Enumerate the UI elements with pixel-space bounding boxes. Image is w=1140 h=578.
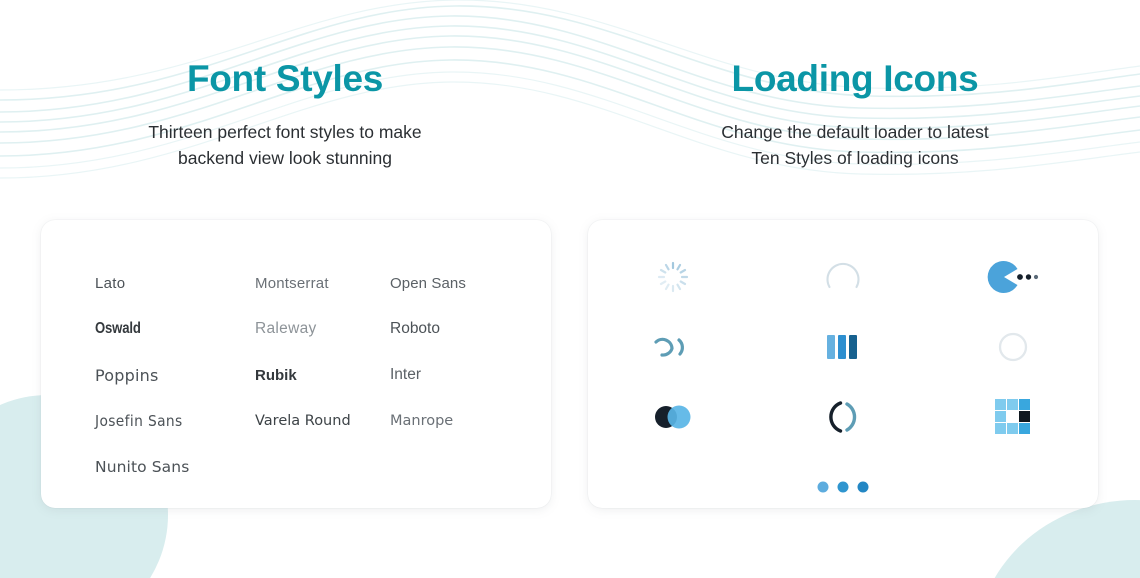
font-name-rubik[interactable]: Rubik [255, 367, 390, 384]
panels-container: Font Styles Thirteen perfect font styles… [0, 0, 1140, 578]
subtitle-line-2: Ten Styles of loading icons [570, 146, 1140, 171]
spinner-dashes-icon[interactable] [656, 260, 690, 294]
loader-cell-2[interactable] [808, 247, 878, 307]
loader-cell-5[interactable] [808, 317, 878, 377]
pacman-icon[interactable] [987, 260, 1039, 294]
page-title-loading-icons: Loading Icons [570, 57, 1140, 101]
font-name-roboto[interactable]: Roboto [390, 320, 515, 338]
split-ring-icon[interactable] [823, 398, 863, 436]
three-bars-icon[interactable] [824, 331, 862, 363]
font-name-montserrat[interactable]: Montserrat [255, 275, 390, 292]
subtitle-line-2: backend view look stunning [0, 146, 570, 171]
arc-ring-icon[interactable] [823, 257, 863, 297]
loader-icon-grid [588, 242, 1098, 522]
page-title-font-styles: Font Styles [0, 57, 570, 101]
font-name-raleway[interactable]: Raleway [255, 320, 390, 338]
page-root: Font Styles Thirteen perfect font styles… [0, 0, 1140, 578]
loader-cell-9[interactable] [978, 387, 1048, 447]
font-name-grid: Lato Montserrat Open Sans Oswald Raleway… [95, 260, 515, 490]
subtitle-loading-icons: Change the default loader to latest Ten … [570, 120, 1140, 171]
font-name-oswald[interactable]: Oswald [95, 320, 226, 338]
font-name-open-sans[interactable]: Open Sans [390, 275, 515, 292]
font-name-josefin-sans[interactable]: Josefin Sans [95, 412, 242, 430]
two-circles-icon[interactable] [649, 401, 697, 433]
subtitle-line-1: Change the default loader to latest [721, 122, 989, 142]
loader-cell-1[interactable] [638, 247, 708, 307]
font-name-nunito-sans[interactable]: Nunito Sans [95, 458, 255, 476]
double-crescent-icon[interactable] [649, 331, 697, 363]
font-styles-card: Lato Montserrat Open Sans Oswald Raleway… [41, 220, 551, 508]
grid-blocks-icon[interactable] [994, 398, 1032, 436]
loader-cell-10[interactable] [808, 457, 878, 517]
loader-cell-4[interactable] [638, 317, 708, 377]
loader-cell-6[interactable] [978, 317, 1048, 377]
font-name-poppins[interactable]: Poppins [95, 366, 255, 385]
circle-outline-icon[interactable] [996, 330, 1030, 364]
three-dots-icon[interactable] [813, 477, 873, 497]
font-name-varela-round[interactable]: Varela Round [255, 413, 390, 429]
subtitle-line-1: Thirteen perfect font styles to make [148, 122, 421, 142]
font-name-lato[interactable]: Lato [95, 275, 255, 292]
loader-cell-7[interactable] [638, 387, 708, 447]
panel-font-styles: Font Styles Thirteen perfect font styles… [0, 0, 570, 578]
font-name-inter[interactable]: Inter [390, 366, 515, 384]
subtitle-font-styles: Thirteen perfect font styles to make bac… [0, 120, 570, 171]
panel-loading-icons: Loading Icons Change the default loader … [570, 0, 1140, 578]
loader-cell-3[interactable] [978, 247, 1048, 307]
loading-icons-card [588, 220, 1098, 508]
loader-cell-8[interactable] [808, 387, 878, 447]
font-name-manrope[interactable]: Manrope [390, 413, 515, 429]
